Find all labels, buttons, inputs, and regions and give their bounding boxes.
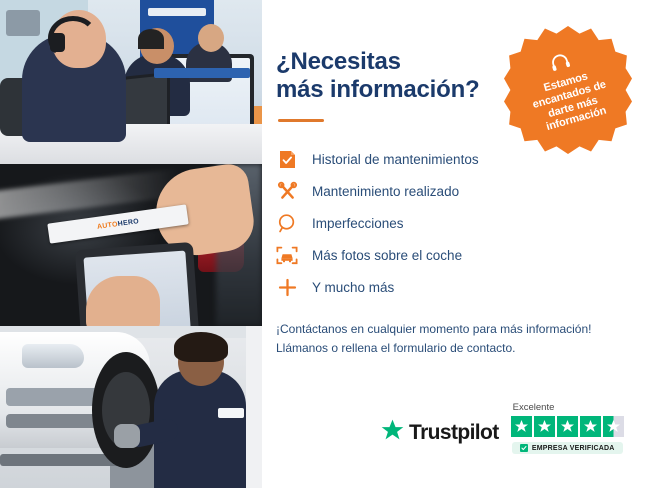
trustpilot-rating[interactable]: Trustpilot Excelente [380, 402, 624, 454]
second-agent-head [140, 28, 174, 64]
photo-collage: AUTOHERO [0, 0, 262, 488]
feature-item-maintenance-done: Mantenimiento realizado [276, 176, 606, 208]
car-headlight [22, 344, 84, 368]
feature-label: Más fotos sobre el coche [312, 248, 462, 263]
star-4-icon [580, 416, 601, 437]
star-3-icon [557, 416, 578, 437]
headset-icon [548, 52, 573, 78]
mechanic-hair [174, 332, 228, 362]
car-photo-frame-icon [276, 245, 298, 267]
car-wheel [92, 352, 160, 468]
info-banner: AUTOHERO ¿Necesitas [0, 0, 650, 488]
verified-company-badge: EMPRESA VERIFICADA [512, 442, 623, 454]
ruler-brand-label: AUTOHERO [97, 218, 140, 231]
workshop-wall-panel [246, 326, 262, 488]
title-divider [278, 119, 324, 122]
monitor-screen-bar [154, 68, 250, 78]
star-2-icon [534, 416, 555, 437]
clipboard-check-icon [276, 149, 298, 171]
background-agent-head [198, 24, 224, 52]
headline-line-2: más información? [276, 76, 480, 103]
feature-item-more-photos: Más fotos sobre el coche [276, 240, 606, 272]
verified-check-icon [520, 444, 528, 452]
wrench-screwdriver-icon [276, 181, 298, 203]
content-panel: ¿Necesitas más información? Estamos enca… [262, 0, 650, 488]
plus-icon [276, 277, 298, 299]
trustpilot-score-block: Excelente [511, 402, 624, 454]
badge-text: Estamos encantados de darte más informac… [518, 64, 624, 139]
headset-earcup [50, 33, 65, 52]
trustpilot-logo[interactable]: Trustpilot [380, 418, 499, 454]
inspector-hand-lower [86, 276, 160, 326]
feature-label: Imperfecciones [312, 216, 404, 231]
feature-label: Mantenimiento realizado [312, 184, 459, 199]
mechanic-glove [114, 424, 140, 448]
trustpilot-star-icon [380, 418, 405, 448]
badge-content: Estamos encantados de darte más informac… [489, 11, 647, 169]
feature-label: Y mucho más [312, 280, 394, 295]
mechanic-uniform-logo [218, 408, 244, 418]
call-center-agents-photo [0, 0, 262, 164]
star-1-icon [511, 416, 532, 437]
autohero-ruler-inspection-photo: AUTOHERO [0, 164, 262, 326]
page-title: ¿Necesitas más información? [276, 48, 516, 105]
trustpilot-wordmark: Trustpilot [409, 421, 499, 445]
paragraph-line-2: Llámanos o rellena el formulario de cont… [276, 341, 515, 355]
ruler-brand-hero: HERO [117, 218, 139, 228]
feature-item-much-more: Y mucho más [276, 272, 606, 304]
verified-company-label: EMPRESA VERIFICADA [532, 445, 615, 452]
feature-label: Historial de mantenimientos [312, 152, 479, 167]
mechanic-wheel-inspection-photo [0, 326, 262, 488]
star-rating [511, 416, 624, 437]
star-5-half-icon [603, 416, 624, 437]
ruler-brand-auto: AUTO [97, 221, 119, 231]
magnifier-icon [276, 213, 298, 235]
contact-paragraph: ¡Contáctanos en cualquier momento para m… [276, 320, 628, 360]
paragraph-line-1: ¡Contáctanos en cualquier momento para m… [276, 322, 592, 336]
headline-line-1: ¿Necesitas [276, 48, 401, 75]
starburst-badge: Estamos encantados de darte más informac… [504, 26, 632, 154]
feature-item-imperfections: Imperfecciones [276, 208, 606, 240]
rating-label: Excelente [513, 402, 555, 413]
feature-list: Historial de mantenimientos Mantenimient… [276, 144, 606, 304]
